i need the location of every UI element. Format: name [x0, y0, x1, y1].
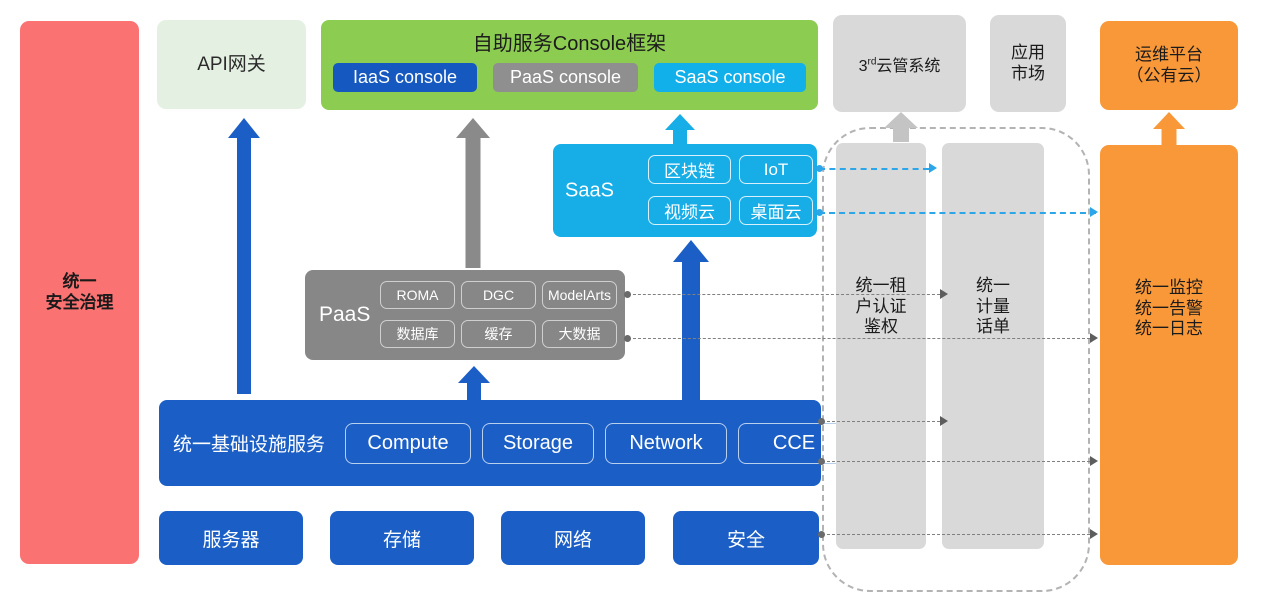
- unified-security-governance-panel: 统一 安全治理: [20, 21, 139, 564]
- paas-console-chip[interactable]: PaaS console: [493, 63, 638, 92]
- saas-item-video-cloud[interactable]: 视频云: [648, 196, 731, 225]
- paas-item-bigdata[interactable]: 大数据: [542, 320, 617, 348]
- connector-arrowhead-infra-bottom: [1090, 456, 1098, 466]
- iaas-console-chip[interactable]: IaaS console: [333, 63, 477, 92]
- architecture-diagram: 统一 安全治理 API网关 自助服务Console框架 IaaS console…: [0, 0, 1265, 605]
- connector-paas-to-ops: [628, 338, 1090, 339]
- paas-item-modelarts[interactable]: ModelArts: [542, 281, 617, 309]
- ops-platform-label: 运维平台 （公有云）: [1127, 45, 1212, 86]
- connector-arrowhead-infra-top: [940, 416, 948, 426]
- connector-hardware-to-ops: [822, 534, 1090, 535]
- paas-item-roma[interactable]: ROMA: [380, 281, 455, 309]
- connector-arrowhead-saas-bottom: [1090, 207, 1098, 217]
- hardware-box-network: 网络: [501, 511, 645, 565]
- arrow-infra-to-api-gateway: [228, 118, 260, 394]
- unified-infrastructure-label: 统一基础设施服务: [173, 430, 325, 457]
- connector-paas-top-extend: [740, 294, 940, 295]
- api-gateway-box: API网关: [157, 20, 306, 109]
- third-party-cloud-mgmt-box: 3rd云管系统: [833, 15, 966, 112]
- hardware-label-storage: 存储: [383, 525, 421, 552]
- infra-item-storage[interactable]: Storage: [482, 423, 594, 464]
- arrow-infra-to-saas: [673, 240, 709, 400]
- connector-dot-infra-top: [818, 418, 825, 425]
- unified-security-governance-label: 统一 安全治理: [46, 272, 114, 313]
- connector-saas-to-auth: [819, 168, 929, 170]
- saas-console-chip[interactable]: SaaS console: [654, 63, 806, 92]
- third-party-cloud-mgmt-label: 3rd云管系统: [859, 52, 941, 76]
- ops-monitoring-column: 统一监控 统一告警 统一日志: [1100, 145, 1238, 565]
- connector-arrowhead-paas-bottom: [1090, 333, 1098, 343]
- connector-saas-to-ops: [819, 212, 1096, 214]
- third-party-suffix: 云管系统: [876, 58, 940, 75]
- paas-item-dgc[interactable]: DGC: [461, 281, 536, 309]
- app-market-box: 应用 市场: [990, 15, 1066, 112]
- app-market-label: 应用 市场: [1011, 43, 1045, 84]
- hardware-label-server: 服务器: [202, 525, 259, 552]
- connector-dot-saas-bottom: [816, 209, 823, 216]
- arrow-shared-to-third-party: [884, 112, 918, 142]
- paas-layer-block: PaaS ROMA DGC ModelArts 数据库 缓存 大数据: [305, 270, 625, 360]
- console-frame-title: 自助服务Console框架: [321, 27, 818, 56]
- unified-metering-label: 统一 计量 话单: [976, 276, 1010, 338]
- saas-layer-block: SaaS 区块链 IoT 视频云 桌面云: [553, 144, 817, 237]
- hardware-box-storage: 存储: [330, 511, 474, 565]
- saas-item-blockchain[interactable]: 区块链: [648, 155, 731, 184]
- api-gateway-label: API网关: [197, 53, 266, 76]
- arrow-paas-to-console: [456, 118, 490, 268]
- unified-metering-column: 统一 计量 话单: [942, 143, 1044, 549]
- ops-monitoring-label: 统一监控 统一告警 统一日志: [1135, 278, 1203, 340]
- connector-infra-to-ops: [822, 461, 1090, 462]
- connector-dot-hardware: [818, 531, 825, 538]
- arrow-infra-to-paas: [458, 366, 490, 402]
- hardware-label-security: 安全: [727, 525, 765, 552]
- paas-item-database[interactable]: 数据库: [380, 320, 455, 348]
- saas-item-desktop-cloud[interactable]: 桌面云: [739, 196, 813, 225]
- connector-arrowhead-hardware: [1090, 529, 1098, 539]
- hardware-label-network: 网络: [554, 525, 592, 552]
- unified-tenant-auth-column: 统一租 户认证 鉴权: [836, 143, 926, 549]
- unified-infrastructure-bar: 统一基础设施服务 Compute Storage Network CCE: [159, 400, 821, 486]
- saas-layer-label: SaaS: [565, 179, 614, 202]
- connector-dot-infra-bottom: [818, 458, 825, 465]
- paas-item-cache[interactable]: 缓存: [461, 320, 536, 348]
- arrow-saas-to-saas-console: [665, 114, 695, 146]
- connector-dot-saas-top: [816, 165, 823, 172]
- hardware-box-security: 安全: [673, 511, 819, 565]
- unified-tenant-auth-label: 统一租 户认证 鉴权: [856, 276, 907, 338]
- paas-layer-label: PaaS: [319, 303, 370, 327]
- infra-item-network[interactable]: Network: [605, 423, 727, 464]
- arrow-ops-column-to-ops-platform: [1153, 112, 1185, 146]
- infra-item-compute[interactable]: Compute: [345, 423, 471, 464]
- connector-arrowhead-paas-top: [940, 289, 948, 299]
- ops-platform-box: 运维平台 （公有云）: [1100, 21, 1238, 110]
- connector-dot-paas-top: [624, 291, 631, 298]
- connector-infra-to-auth: [822, 421, 940, 422]
- self-service-console-frame: 自助服务Console框架 IaaS console PaaS console …: [321, 20, 818, 110]
- hardware-box-server: 服务器: [159, 511, 303, 565]
- connector-arrowhead-saas-top: [929, 163, 937, 173]
- saas-item-iot[interactable]: IoT: [739, 155, 813, 184]
- connector-paas-to-auth: [628, 294, 740, 295]
- connector-dot-paas-bottom: [624, 335, 631, 342]
